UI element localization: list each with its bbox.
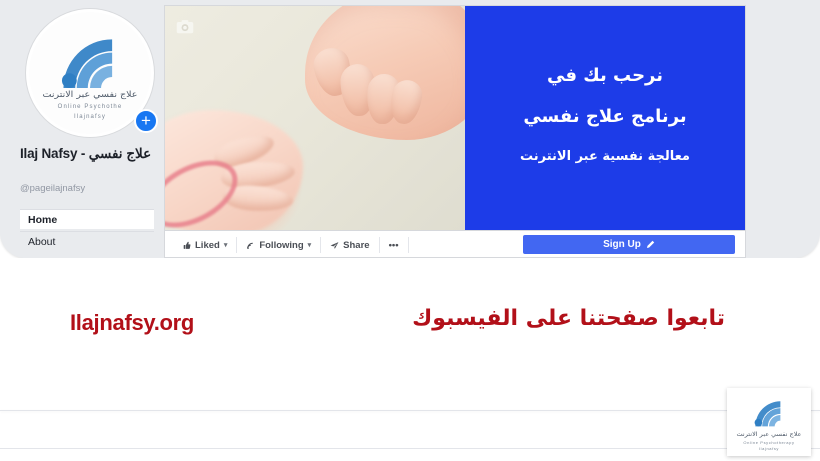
liked-button-label: Liked — [195, 240, 220, 251]
footer-logo-latin-line-2: Ilajnafsy — [727, 446, 811, 451]
footer-logo-arabic-tagline: علاج نفسي عبر الانترنت — [727, 431, 811, 438]
welcome-line-1: نرحب بك في — [547, 65, 663, 86]
following-button[interactable]: Following ▾ — [237, 237, 321, 253]
thumbs-up-icon — [182, 241, 191, 250]
sidebar-item-home[interactable]: Home — [20, 209, 154, 229]
footer-logo-latin-line-1: Online Psychotherapy — [727, 440, 811, 445]
more-options-label: ••• — [389, 240, 399, 251]
logo-latin-line-2: Ilajnafsy — [29, 114, 151, 120]
footer-logo: علاج نفسي عبر الانترنت Online Psychother… — [727, 388, 811, 456]
following-button-label: Following — [259, 240, 303, 251]
share-icon — [330, 241, 339, 250]
sidebar-item-about[interactable]: About — [20, 231, 154, 251]
pencil-icon — [646, 240, 655, 249]
wifi-signal-icon — [750, 396, 789, 429]
wifi-signal-icon — [51, 29, 129, 92]
add-photo-badge[interactable]: + — [134, 109, 158, 133]
page-action-bar: Liked ▾ Following ▾ Share — [164, 231, 746, 258]
website-url-caption: Ilajnafsy.org — [70, 310, 194, 336]
avatar[interactable]: علاج نفسي عبر الانترنت Online Psychothe … — [26, 9, 154, 137]
sidebar-item-label: About — [28, 236, 55, 248]
chevron-down-icon: ▾ — [224, 241, 228, 249]
welcome-banner: نرحب بك في برنامج علاج نفسي معالجة نفسية… — [465, 6, 745, 230]
facebook-left-column: علاج نفسي عبر الانترنت Online Psychothe … — [0, 0, 162, 258]
cover-photo-image — [165, 6, 465, 230]
divider-line — [0, 448, 820, 449]
page-title: Ilaj Nafsy - علاج نفسي — [20, 145, 152, 162]
sidebar-item-label: Home — [28, 214, 57, 226]
more-options-button[interactable]: ••• — [380, 237, 409, 253]
sign-up-label: Sign Up — [603, 239, 641, 250]
facebook-page-screenshot: علاج نفسي عبر الانترنت Online Psychothe … — [0, 0, 820, 258]
rss-icon — [246, 241, 255, 250]
share-button[interactable]: Share — [321, 237, 379, 253]
sign-up-button[interactable]: Sign Up — [523, 235, 735, 254]
cover-photo-area[interactable]: نرحب بك في برنامج علاج نفسي معالجة نفسية… — [164, 5, 746, 231]
page-handle: @pageilajnafsy — [20, 183, 85, 194]
liked-button[interactable]: Liked ▾ — [173, 237, 237, 253]
slide-lower-section: تابعوا صفحتنا على الفيسبوك Ilajnafsy.org — [0, 258, 820, 461]
welcome-line-2: برنامج علاج نفسي — [523, 106, 686, 127]
presentation-slide: علاج نفسي عبر الانترنت Online Psychothe … — [0, 0, 820, 461]
divider-line — [0, 410, 820, 411]
camera-icon[interactable] — [176, 19, 194, 34]
chevron-down-icon: ▾ — [308, 241, 312, 249]
welcome-line-3: معالجة نفسية عبر الانترنت — [520, 149, 690, 164]
follow-us-arabic-caption: تابعوا صفحتنا على الفيسبوك — [412, 306, 725, 331]
share-button-label: Share — [343, 240, 369, 251]
logo-latin-line-1: Online Psychothe — [29, 104, 151, 110]
logo-arabic-tagline: علاج نفسي عبر الانترنت — [29, 89, 151, 99]
